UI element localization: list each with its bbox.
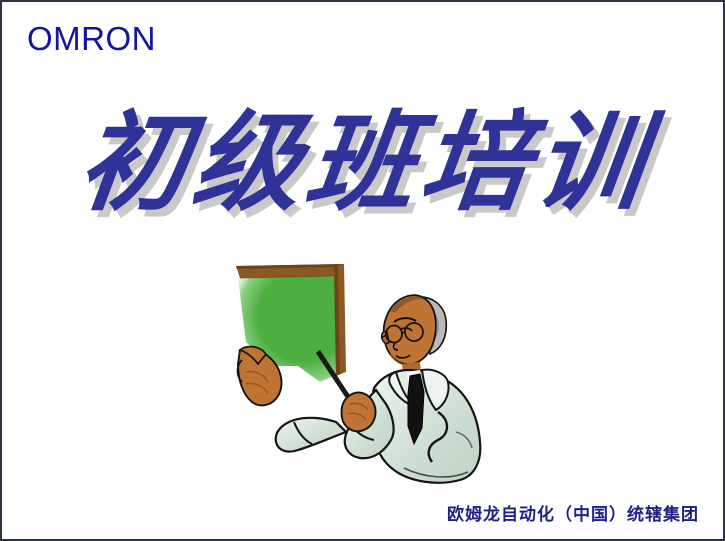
omron-logo: OMRON	[27, 22, 156, 55]
lecturer-head	[381, 295, 446, 365]
company-name-footer: 欧姆龙自动化（中国）统辖集团	[447, 505, 699, 525]
presentation-slide: OMRON 初级班培训 初级班培训	[0, 0, 725, 541]
lecturer-illustration	[224, 254, 496, 489]
slide-title: 初级班培训 初级班培训	[2, 98, 725, 248]
slide-title-text: 初级班培训	[0, 98, 725, 228]
